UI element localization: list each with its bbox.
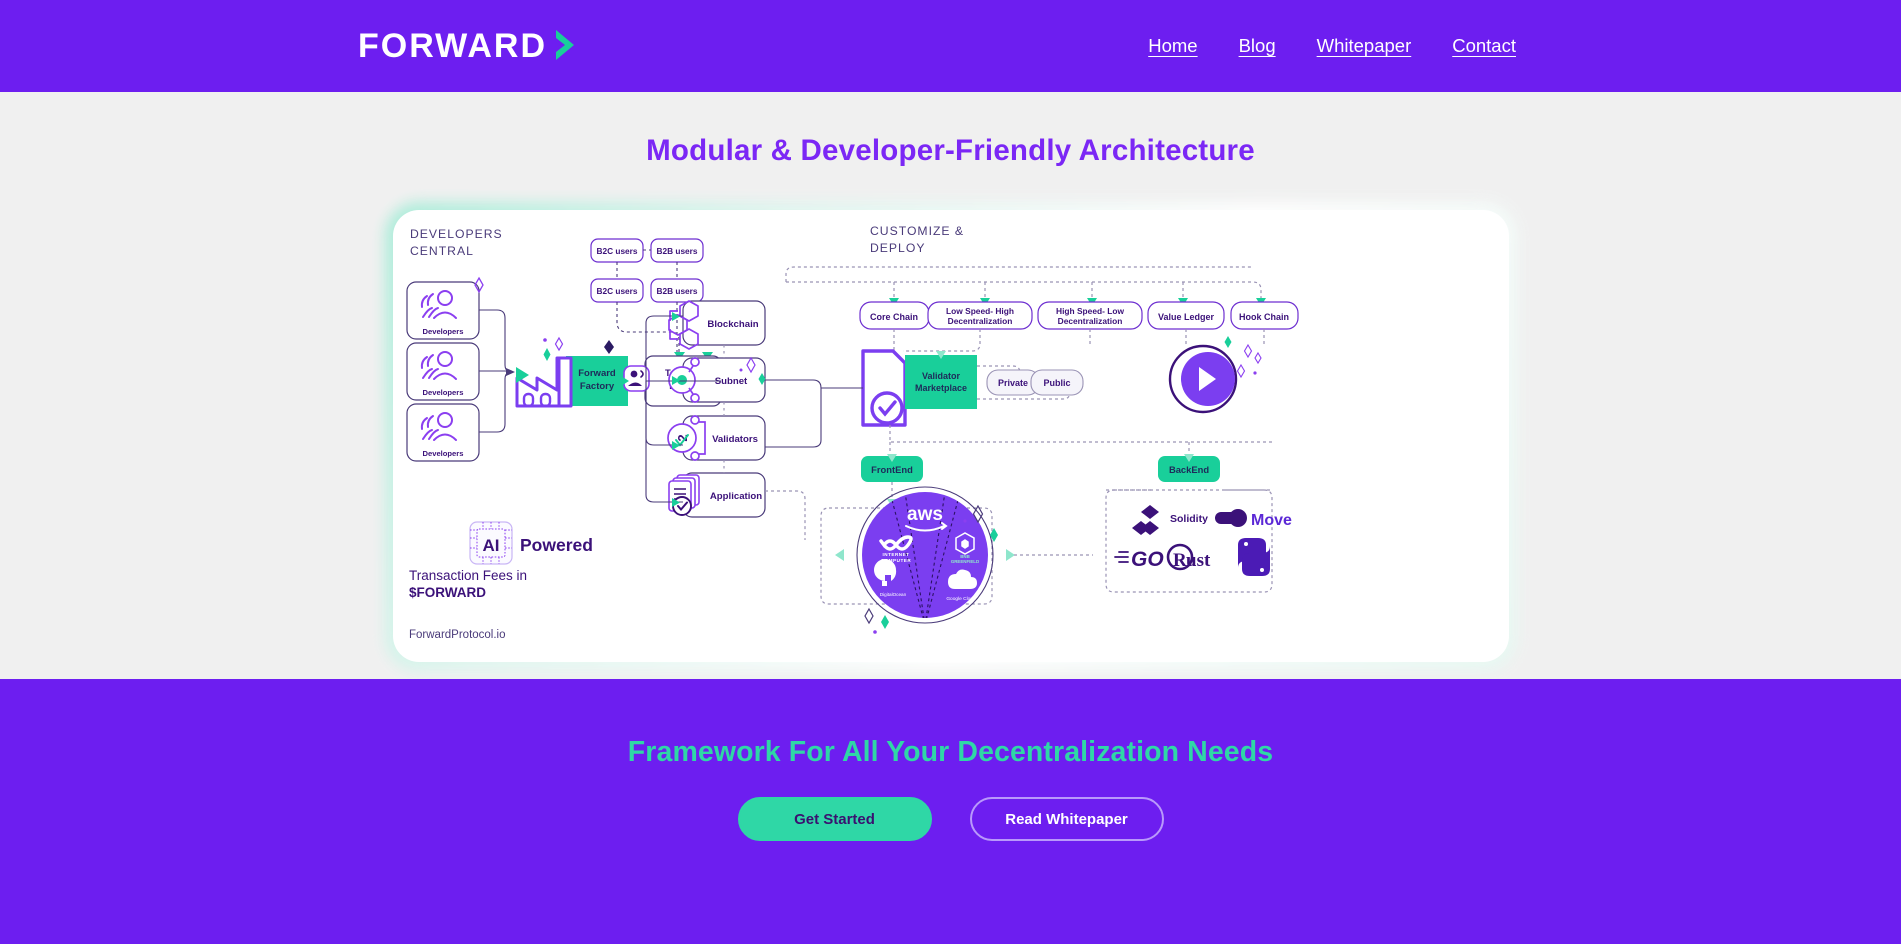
backend-badge-label: BackEnd	[1168, 464, 1208, 475]
chain-box-label-line2: Decentralization	[1057, 316, 1122, 326]
template-user-icon	[624, 366, 649, 391]
access-mode-label: Public	[1043, 378, 1070, 388]
user-box-label: B2C users	[596, 246, 637, 256]
chain-box-label-line2: Decentralization	[947, 316, 1012, 326]
solidity-icon	[1132, 505, 1159, 535]
backend-language-solidity: Solidity	[1132, 505, 1208, 535]
customize-deploy-label-line2: DEPLOY	[870, 241, 925, 255]
ai-powered-label: Powered	[520, 535, 593, 555]
user-box-b2b-1[interactable]: B2B users	[651, 239, 703, 262]
transaction-fees-label-line1: Transaction Fees in	[409, 568, 527, 583]
pipeline-node-subnet[interactable]: Subnet	[669, 358, 766, 402]
site-header: FORWARD Home Blog Whitepaper Contact	[0, 0, 1901, 92]
go-speed-lines-icon	[1115, 552, 1128, 562]
document-check-icon	[863, 351, 905, 425]
access-mode-label: Private	[997, 378, 1027, 388]
frontend-badge-label: FrontEnd	[871, 464, 913, 475]
diagram-canvas: DEVELOPERS CENTRAL CUSTOMIZE & DEPLOY De…	[393, 210, 1509, 662]
factory-label-line2: Factory	[579, 381, 614, 392]
nav-link-blog[interactable]: Blog	[1239, 35, 1276, 57]
backend-language-move: Move	[1215, 509, 1292, 529]
developers-central-label-line1: DEVELOPERS	[410, 227, 503, 241]
developer-card-label: Developers	[422, 388, 463, 397]
user-box-b2b-2[interactable]: B2B users	[651, 279, 703, 302]
backend-language-label-suffix: ust	[1186, 550, 1211, 571]
developer-card-2[interactable]: Developers	[407, 343, 479, 400]
nav-link-contact[interactable]: Contact	[1452, 35, 1516, 57]
developer-card-1[interactable]: Developers	[407, 282, 479, 339]
architecture-diagram: DEVELOPERS CENTRAL CUSTOMIZE & DEPLOY De…	[393, 210, 1509, 662]
bottom-cta-title: Framework For All Your Decentralization …	[0, 679, 1901, 769]
chain-box-low-speed[interactable]: Low Speed- High Decentralization	[928, 302, 1032, 329]
page-title: Modular & Developer-Friendly Architectur…	[0, 134, 1901, 168]
user-box-label: B2C users	[596, 286, 637, 296]
backend-language-label: Solidity	[1170, 513, 1208, 525]
python-icon	[1238, 538, 1270, 576]
backend-language-rust: R ust	[1168, 545, 1211, 571]
backend-language-label: Move	[1251, 512, 1292, 529]
chain-box-core-chain[interactable]: Core Chain	[860, 302, 929, 329]
pipeline-node-label: Blockchain	[707, 319, 758, 330]
bottom-cta-buttons: Get Started Read Whitepaper	[0, 797, 1901, 841]
access-mode-public[interactable]: Public	[1031, 370, 1083, 395]
chain-box-label: Hook Chain	[1238, 312, 1288, 322]
pipeline-node-blockchain[interactable]: Blockchain	[669, 301, 765, 349]
play-circle-icon[interactable]	[1170, 346, 1236, 412]
cloud-provider-label-bnb-line2: GREENFIELD	[950, 559, 978, 564]
arrow-icon	[506, 368, 515, 376]
chain-box-hook-chain[interactable]: Hook Chain	[1231, 302, 1298, 329]
backend-language-label: GO	[1131, 548, 1164, 571]
backend-badge[interactable]: BackEnd	[1158, 454, 1220, 482]
backend-language-python	[1238, 538, 1270, 576]
chain-box-value-ledger[interactable]: Value Ledger	[1148, 302, 1224, 329]
marketplace-label-line2: Marketplace	[914, 383, 966, 393]
developer-card-label: Developers	[422, 327, 463, 336]
backend-language-label: R	[1173, 550, 1187, 571]
developer-card-3[interactable]: Developers	[407, 404, 479, 461]
forward-factory-node[interactable]: Forward Factory	[516, 356, 628, 406]
customize-deploy-label-line1: CUSTOMIZE &	[870, 224, 964, 238]
nav-link-home[interactable]: Home	[1148, 35, 1197, 57]
diamond-node-icon	[604, 340, 614, 354]
cloud-provider-label-aws: aws	[907, 504, 943, 525]
pipeline-node-validators[interactable]: 2 Validators	[668, 416, 765, 460]
factory-label-line1: Forward	[578, 368, 616, 379]
pipeline-node-label: Application	[709, 491, 761, 502]
cloud-provider-label-gcp: Google Cloud	[946, 596, 976, 602]
ai-powered-badge: AI Powered	[470, 522, 593, 564]
marketplace-label-line1: Validator	[921, 371, 960, 381]
backend-language-go: GO	[1115, 548, 1164, 571]
pipeline-node-label: Validators	[712, 434, 758, 445]
developers-central-label-line2: CENTRAL	[410, 244, 474, 258]
transaction-fees-label-line2: $FORWARD	[409, 585, 486, 600]
user-box-b2c-1[interactable]: B2C users	[591, 239, 643, 262]
website-label: ForwardProtocol.io	[409, 629, 506, 641]
cloud-provider-label-ic-line1: INTERNET	[882, 552, 909, 557]
ai-chip-label: AI	[482, 536, 499, 555]
chain-box-label: Value Ledger	[1157, 312, 1214, 322]
diagram-card: DEVELOPERS CENTRAL CUSTOMIZE & DEPLOY De…	[393, 210, 1509, 662]
frontend-badge[interactable]: FrontEnd	[861, 454, 923, 482]
pipeline-node-application[interactable]: Application	[669, 473, 765, 517]
user-box-label: B2B users	[656, 246, 697, 256]
bottom-cta-band: Framework For All Your Decentralization …	[0, 679, 1901, 944]
validator-marketplace-node[interactable]: Validator Marketplace	[863, 351, 977, 425]
chain-box-label-line1: High Speed- Low	[1056, 306, 1124, 316]
sparkle-cluster-icon	[1237, 345, 1261, 377]
move-icon	[1215, 509, 1247, 527]
main-navigation: Home Blog Whitepaper Contact	[0, 35, 1901, 57]
chain-rail	[786, 267, 1261, 298]
get-started-button[interactable]: Get Started	[738, 797, 932, 841]
user-box-label: B2B users	[656, 286, 697, 296]
chain-box-high-speed[interactable]: High Speed- Low Decentralization	[1038, 302, 1142, 329]
cloud-provider-label-do: DigitalOcean	[879, 592, 906, 597]
chain-box-label: Core Chain	[869, 312, 917, 322]
read-whitepaper-button[interactable]: Read Whitepaper	[970, 797, 1164, 841]
user-box-b2c-2[interactable]: B2C users	[591, 279, 643, 302]
developer-card-label: Developers	[422, 449, 463, 458]
chain-box-label-line1: Low Speed- High	[946, 306, 1014, 316]
sparkle-icon	[1224, 336, 1231, 348]
nav-link-whitepaper[interactable]: Whitepaper	[1317, 35, 1412, 57]
